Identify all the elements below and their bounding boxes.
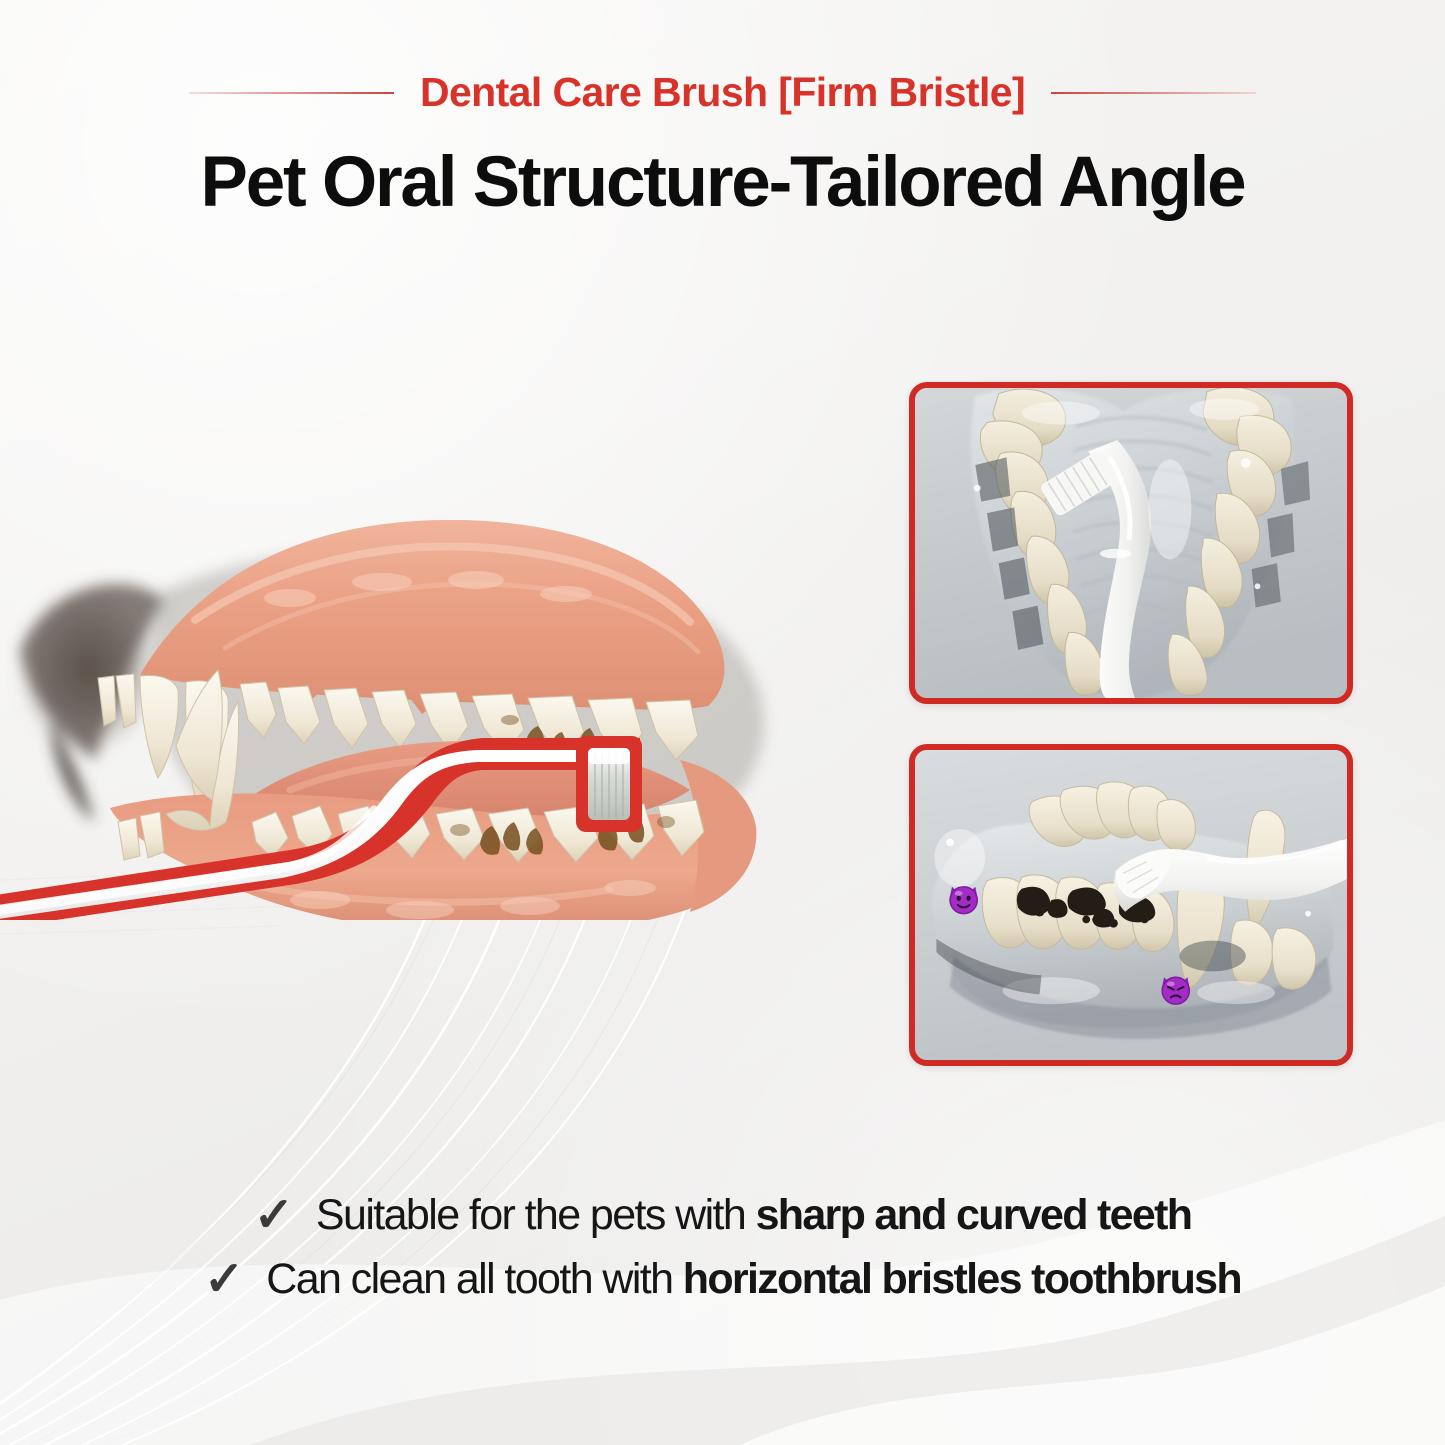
- bullet-text: Can clean all tooth with horizontal bris…: [266, 1255, 1241, 1304]
- check-icon: ✓: [204, 1256, 244, 1304]
- decorative-rule-left-icon: [189, 92, 394, 94]
- list-item: ✓ Can clean all tooth with horizontal br…: [204, 1254, 1241, 1304]
- bullet-strong: sharp and curved teeth: [756, 1191, 1192, 1239]
- feature-bullet-list: ✓ Suitable for the pets with sharp and c…: [0, 1190, 1445, 1304]
- check-icon: ✓: [254, 1192, 294, 1240]
- purple-devil-emoji: [950, 887, 977, 914]
- bullet-text: Suitable for the pets with sharp and cur…: [316, 1191, 1191, 1240]
- photo-panel-side-view: [909, 744, 1353, 1066]
- hero-dog-mouth-illustration: [0, 470, 820, 920]
- bullet-strong: horizontal bristles toothbrush: [683, 1255, 1241, 1303]
- list-item: ✓ Suitable for the pets with sharp and c…: [254, 1190, 1192, 1240]
- page-title: Pet Oral Structure-Tailored Angle: [0, 147, 1445, 218]
- dental-model-front-photo: [915, 388, 1347, 698]
- dental-model-side-photo: [915, 750, 1347, 1060]
- eyebrow-row: Dental Care Brush [Firm Bristle]: [0, 72, 1445, 113]
- eyebrow-title: Dental Care Brush [Firm Bristle]: [420, 72, 1025, 113]
- photo-panel-front-view: [909, 382, 1353, 704]
- bullet-lead: Can clean all tooth with: [266, 1255, 683, 1303]
- bullet-lead: Suitable for the pets with: [316, 1191, 756, 1239]
- purple-devil-emoji: [1162, 977, 1189, 1004]
- header: Dental Care Brush [Firm Bristle] Pet Ora…: [0, 0, 1445, 218]
- decorative-rule-right-icon: [1051, 92, 1256, 94]
